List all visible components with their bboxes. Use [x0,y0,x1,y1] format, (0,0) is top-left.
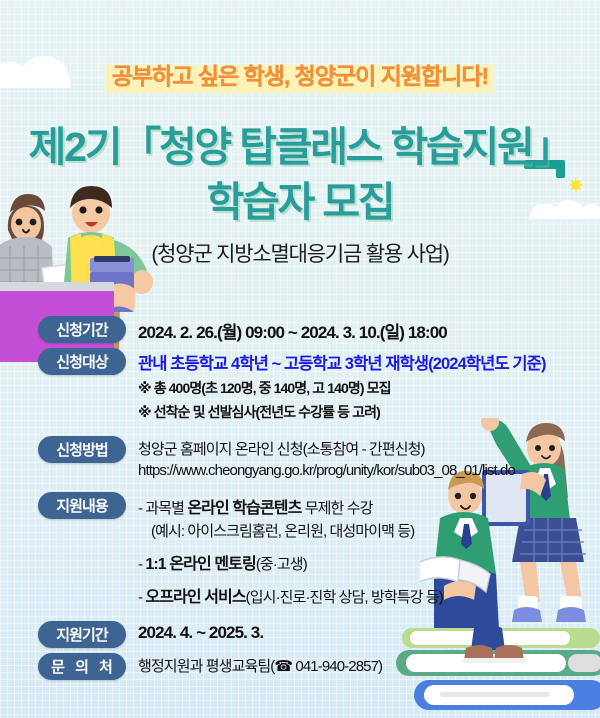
eyebrow-container: 공부하고 싶은 학생, 청양군이 지원합니다! [0,56,600,93]
support-item-1-example: (예시: 아이스크림홈런, 온리원, 대성마이맥 등) [138,520,600,541]
value-target: 관내 초등학교 4학년 ~ 고등학교 3학년 재학생(2024학년도 기준) [138,350,600,374]
support-item-1-pre: 과목별 [145,500,187,517]
poster-title-line1: 제2기「청양 탑클래스 학습지원」 [0,113,600,173]
support-item-1-bold: 온라인 학습콘텐츠 [187,500,301,517]
support-item-3-bold: 오프라인 서비스 [145,589,245,606]
value-method: 청양군 홈페이지 온라인 신청(소통참여 - 간편신청) [138,438,600,459]
support-item-3-post: (입시·진로·진학 상담, 방학특강 등) [246,589,443,606]
info-row-support: 지원내용 - 과목별 온라인 학습콘텐츠 무제한 수강 (예시: 아이스크림홈런… [0,492,600,607]
support-item-2-post: (중·고생) [256,556,307,573]
info-section: 신청기간 2024. 2. 26.(월) 09:00 ~ 2024. 3. 10… [0,316,600,685]
poster-root: ✸ 공부하고 싶은 학생, 청양군이 지원합니다! 제2기「청양 탑클래스 학습… [0,0,600,718]
label-duration: 지원기간 [38,621,126,648]
label-period: 신청기간 [38,316,126,343]
label-method: 신청방법 [38,436,126,463]
value-period-container: 2024. 2. 26.(월) 09:00 ~ 2024. 3. 10.(일) … [138,316,600,343]
info-row-target: 신청대상 관내 초등학교 4학년 ~ 고등학교 3학년 재학생(2024학년도 … [0,348,600,422]
value-duration: 2024. 4. ~ 2025. 3. [138,623,600,643]
value-contact: 행정지원과 평생교육팀(☎ 041-940-2857) [138,655,600,676]
info-row-period: 신청기간 2024. 2. 26.(월) 09:00 ~ 2024. 3. 10… [0,316,600,343]
value-support-container: - 과목별 온라인 학습콘텐츠 무제한 수강 (예시: 아이스크림홈런, 온리원… [138,492,600,607]
podium-top [0,282,114,291]
value-target-container: 관내 초등학교 4학년 ~ 고등학교 3학년 재학생(2024학년도 기준) ※… [138,348,600,422]
support-item-2-bold: 1:1 온라인 멘토링 [145,556,255,573]
value-duration-container: 2024. 4. ~ 2025. 3. [138,621,600,643]
label-contact: 문 의 처 [38,653,126,680]
info-row-duration: 지원기간 2024. 4. ~ 2025. 3. [0,621,600,648]
support-item-3: - 오프라인 서비스(입시·진로·진학 상담, 방학특강 등) [138,583,600,607]
value-method-container: 청양군 홈페이지 온라인 신청(소통참여 - 간편신청) https://www… [138,436,600,479]
label-support: 지원내용 [38,492,126,519]
info-row-method: 신청방법 청양군 홈페이지 온라인 신청(소통참여 - 간편신청) https:… [0,436,600,479]
support-item-2: - 1:1 온라인 멘토링(중·고생) [138,550,600,574]
target-note-1: ※ 총 400명(초 120명, 중 140명, 고 140명) 모집 [138,378,600,398]
application-url[interactable]: https://www.cheongyang.go.kr/prog/unity/… [138,462,600,479]
support-item-1: - 과목별 온라인 학습콘텐츠 무제한 수강 [138,494,600,518]
target-note-2: ※ 선착순 및 선발심사(전년도 수강률 등 고려) [138,402,600,422]
value-contact-container: 행정지원과 평생교육팀(☎ 041-940-2857) [138,653,600,676]
support-item-1-post: 무제한 수강 [301,500,372,517]
value-period: 2024. 2. 26.(월) 09:00 ~ 2024. 3. 10.(일) … [138,318,600,343]
eyebrow-text: 공부하고 싶은 학생, 청양군이 지원합니다! [106,56,494,93]
info-row-contact: 문 의 처 행정지원과 평생교육팀(☎ 041-940-2857) [0,653,600,680]
label-target: 신청대상 [38,348,126,375]
